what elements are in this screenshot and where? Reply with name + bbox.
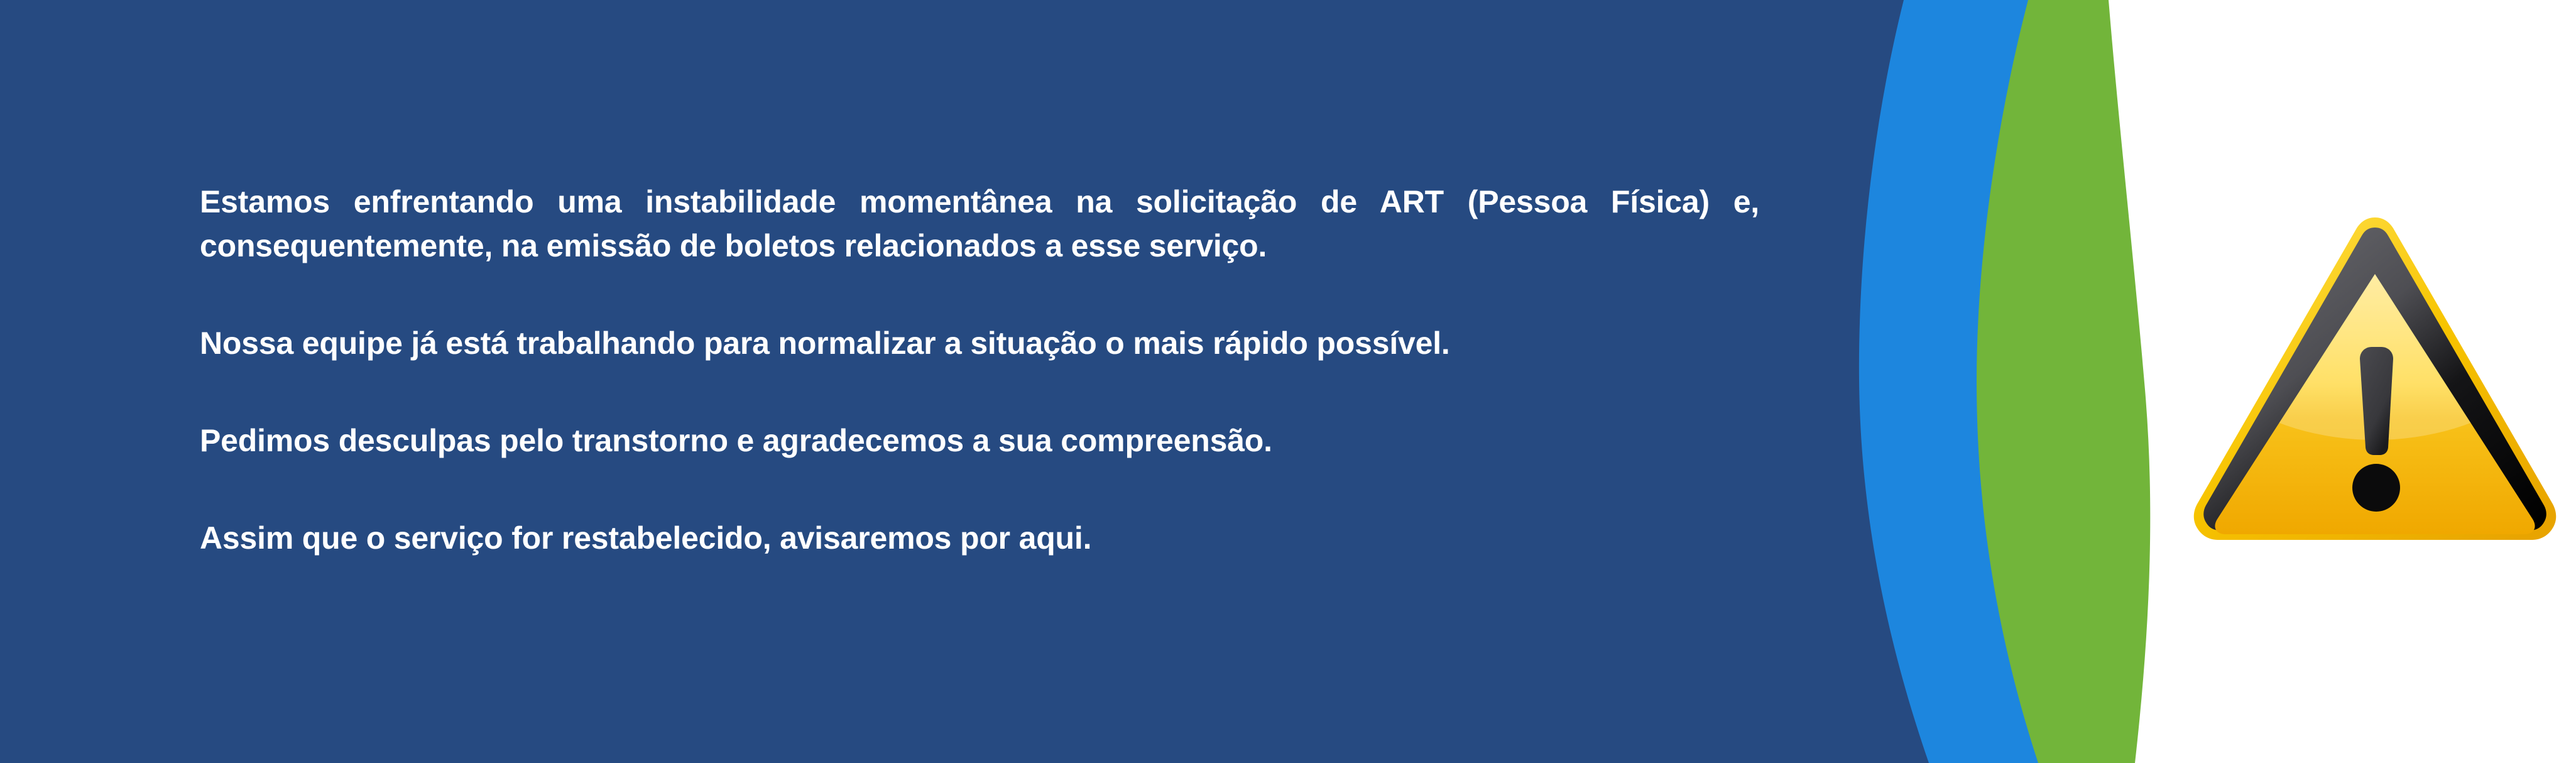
message-paragraph-4: Assim que o serviço for restabelecido, a… [200,516,1759,560]
message-paragraph-1: Estamos enfrentando uma instabilidade mo… [200,180,1759,268]
service-outage-banner: Estamos enfrentando uma instabilidade mo… [0,0,2576,763]
message-paragraph-3: Pedimos desculpas pelo transtorno e agra… [200,419,1759,463]
outage-message-block: Estamos enfrentando uma instabilidade mo… [200,180,1759,560]
warning-exclamation-dot [2352,464,2400,512]
message-paragraph-2: Nossa equipe já está trabalhando para no… [200,321,1759,365]
warning-triangle-exclamation-icon [2193,214,2557,547]
